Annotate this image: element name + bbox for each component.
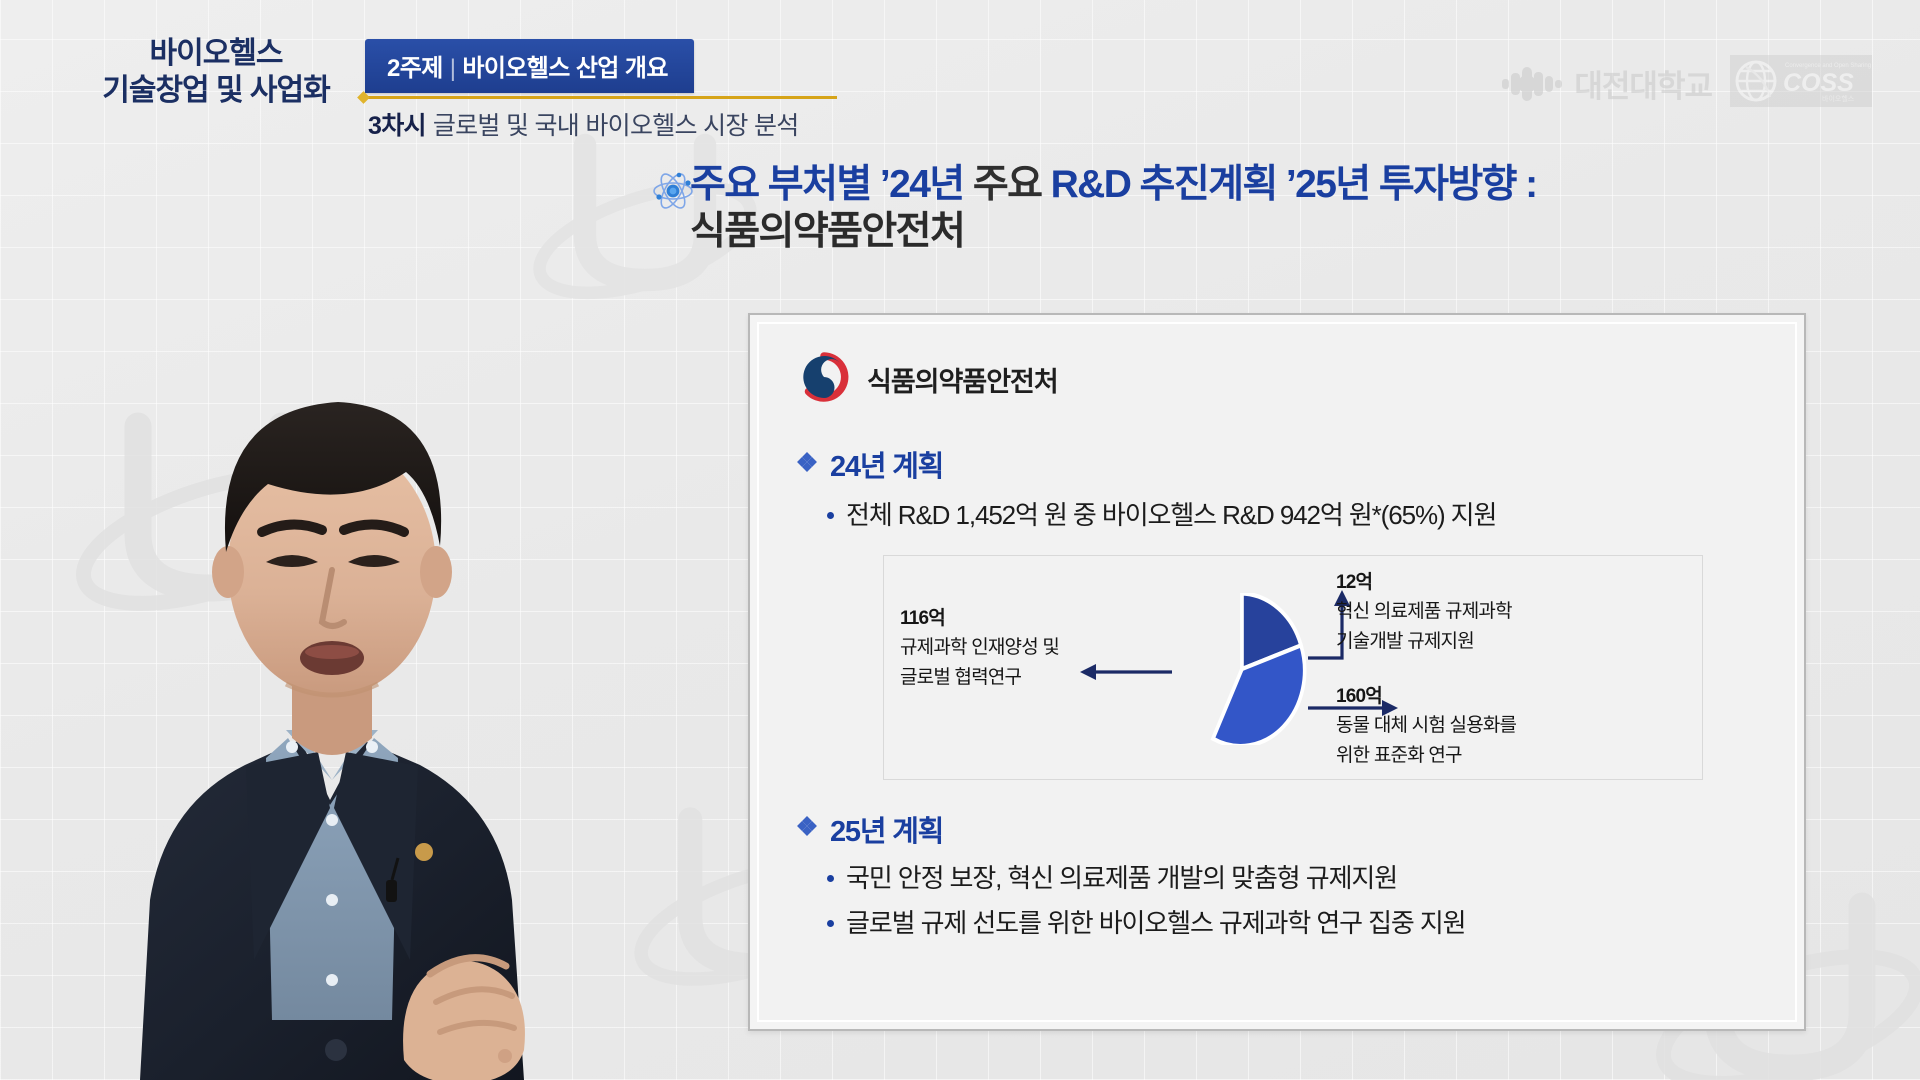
page-title-line1: 주요 부처별 ’24년 주요 R&D 추진계획 ’25년 투자방향 : bbox=[690, 162, 1850, 208]
topic-separator: | bbox=[450, 55, 456, 82]
bullet-dot-icon bbox=[827, 512, 834, 519]
topic-number: 2주제 bbox=[387, 55, 443, 82]
chart-callout-116: 116억 규제과학 인재양성 및 글로벌 협력연구 bbox=[900, 604, 1059, 692]
course-title: 바이오헬스 기술창업 및 사업화 bbox=[86, 36, 346, 109]
pie-graphic bbox=[1176, 593, 1308, 745]
coss-logo: Convergence and Open Sharing System COSS… bbox=[1730, 55, 1872, 112]
chart-label-160-line1: 동물 대체 시험 실용화를 bbox=[1336, 715, 1516, 736]
bullet-text: 전체 R&D 1,452억 원 중 바이오헬스 R&D 942억 원*(65%)… bbox=[846, 497, 1496, 535]
korea-government-taegeuk-icon bbox=[797, 350, 851, 409]
agency-name: 식품의약품안전처 bbox=[867, 360, 1058, 399]
topic-underline bbox=[365, 96, 837, 99]
university-name: 대전대학교 bbox=[1574, 61, 1712, 106]
section-title-25: 25년 계획 bbox=[830, 808, 943, 850]
chart-label-160-line2: 위한 표준화 연구 bbox=[1336, 745, 1462, 766]
chart-label-12-line2: 기술개발 규제지원 bbox=[1336, 631, 1474, 652]
content-panel-inner: 식품의약품안전처 24년 계획 bbox=[757, 322, 1797, 1022]
atom-icon bbox=[650, 168, 696, 219]
bullet-dot-icon bbox=[827, 920, 834, 927]
page-title-seg2: 주요 bbox=[973, 163, 1051, 206]
session-name: 글로벌 및 국내 바이오헬스 시장 분석 bbox=[433, 112, 799, 140]
chart-label-116-line2: 글로벌 협력연구 bbox=[900, 667, 1021, 688]
list-item: 국민 안정 보장, 혁신 의료제품 개발의 맞춤형 규제지원 bbox=[827, 860, 1769, 898]
section-heading-24: 24년 계획 bbox=[797, 443, 1769, 485]
chart-label-116-line1: 규제과학 인재양성 및 bbox=[900, 637, 1059, 658]
page-title-seg3: R&D 추진계획 ’25년 투자방향 : bbox=[1051, 163, 1537, 206]
chart-callout-12: 12억 혁신 의료제품 규제과학 기술개발 규제지원 bbox=[1336, 568, 1512, 656]
topic-name: 바이오헬스 산업 개요 bbox=[462, 55, 667, 82]
diamond-bullet-icon bbox=[797, 452, 817, 477]
session-line: 3차시글로벌 및 국내 바이오헬스 시장 분석 bbox=[368, 106, 799, 142]
slide-stage: 바이오헬스 기술창업 및 사업화 2주제|바이오헬스 산업 개요 3차시글로벌 … bbox=[0, 0, 1920, 1080]
section-title-24: 24년 계획 bbox=[830, 443, 943, 485]
page-title-line2: 식품의약품안전처 bbox=[690, 208, 1850, 257]
list-item: 전체 R&D 1,452억 원 중 바이오헬스 R&D 942억 원*(65%)… bbox=[827, 497, 1769, 535]
budget-pie-chart: 116억 규제과학 인재양성 및 글로벌 협력연구 12억 혁신 의료제품 규제… bbox=[883, 555, 1703, 780]
topic-ribbon: 2주제|바이오헬스 산업 개요 bbox=[365, 39, 694, 93]
content-panel: 식품의약품안전처 24년 계획 bbox=[748, 313, 1806, 1031]
brand-logos: 대전대학교 Convergence and Open Sharing Syste… bbox=[1502, 55, 1872, 112]
bullet-text: 글로벌 규제 선도를 위한 바이오헬스 규제과학 연구 집중 지원 bbox=[846, 905, 1466, 943]
chart-callout-160: 160억 동물 대체 시험 실용화를 위한 표준화 연구 bbox=[1336, 682, 1516, 770]
dju-emblem-icon bbox=[1502, 64, 1564, 104]
page-title: 주요 부처별 ’24년 주요 R&D 추진계획 ’25년 투자방향 : 식품의약… bbox=[690, 162, 1850, 257]
diamond-bullet-icon bbox=[797, 816, 817, 841]
chart-value-116: 116억 bbox=[900, 604, 1059, 633]
page-title-seg1: 주요 부처별 ’24년 bbox=[690, 163, 973, 206]
topic-header: 2주제|바이오헬스 산업 개요 3차시글로벌 및 국내 바이오헬스 시장 분석 bbox=[365, 39, 694, 93]
session-number: 3차시 bbox=[368, 112, 426, 140]
chart-value-12: 12억 bbox=[1336, 568, 1512, 597]
university-logo: 대전대학교 bbox=[1502, 61, 1712, 106]
chart-label-12-line1: 혁신 의료제품 규제과학 bbox=[1336, 601, 1512, 622]
svg-text:바이오헬스: 바이오헬스 bbox=[1822, 94, 1855, 103]
list-item: 글로벌 규제 선도를 위한 바이오헬스 규제과학 연구 집중 지원 bbox=[827, 905, 1769, 943]
bullet-text: 국민 안정 보장, 혁신 의료제품 개발의 맞춤형 규제지원 bbox=[846, 860, 1397, 898]
svg-text:COSS: COSS bbox=[1783, 69, 1854, 97]
section-heading-25: 25년 계획 bbox=[797, 808, 1769, 850]
bullet-dot-icon bbox=[827, 875, 834, 882]
presenter-video bbox=[0, 260, 660, 1080]
agency-header: 식품의약품안전처 bbox=[797, 350, 1769, 409]
chart-value-160: 160억 bbox=[1336, 682, 1516, 711]
